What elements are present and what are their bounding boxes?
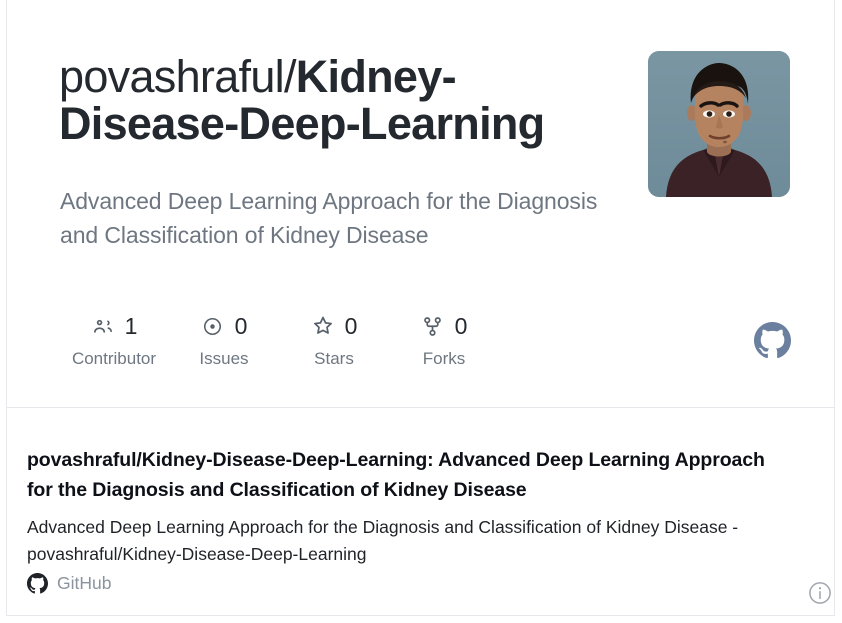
repository-description: Advanced Deep Learning Approach for the … bbox=[60, 184, 610, 252]
stat-stars-label: Stars bbox=[314, 349, 354, 369]
stat-stars-top: 0 bbox=[311, 312, 358, 340]
stat-contributors: 1 Contributor bbox=[59, 312, 169, 369]
github-mark-icon bbox=[27, 573, 48, 594]
repository-title: povashraful/Kidney-Disease-Deep-Learning bbox=[59, 53, 619, 147]
stat-contributors-top: 1 bbox=[91, 312, 138, 340]
stat-contributors-label: Contributor bbox=[72, 349, 156, 369]
repository-owner: povashraful/ bbox=[59, 51, 296, 102]
repo-forked-icon bbox=[421, 314, 445, 338]
preview-meta: povashraful/Kidney-Disease-Deep-Learning… bbox=[7, 408, 834, 615]
stat-stars-value: 0 bbox=[345, 312, 358, 340]
avatar bbox=[648, 51, 790, 197]
stat-forks-top: 0 bbox=[421, 312, 468, 340]
github-mark-icon bbox=[754, 322, 791, 359]
star-icon bbox=[311, 314, 335, 338]
stat-issues-value: 0 bbox=[235, 312, 248, 340]
link-preview-card[interactable]: povashraful/Kidney-Disease-Deep-Learning… bbox=[6, 0, 835, 616]
stat-issues-top: 0 bbox=[201, 312, 248, 340]
info-circle-icon[interactable] bbox=[807, 580, 833, 606]
stat-stars: 0 Stars bbox=[279, 312, 389, 369]
preview-source[interactable]: GitHub bbox=[27, 573, 111, 594]
stat-issues: 0 Issues bbox=[169, 312, 279, 369]
repository-stats: 1 Contributor 0 Issues bbox=[59, 312, 499, 369]
issue-opened-icon bbox=[201, 314, 225, 338]
preview-title[interactable]: povashraful/Kidney-Disease-Deep-Learning… bbox=[27, 445, 787, 505]
stat-forks-label: Forks bbox=[423, 349, 466, 369]
stat-issues-label: Issues bbox=[199, 349, 248, 369]
preview-description: Advanced Deep Learning Approach for the … bbox=[27, 514, 802, 568]
stat-forks-value: 0 bbox=[455, 312, 468, 340]
preview-source-label: GitHub bbox=[57, 573, 111, 594]
preview-hero-image: povashraful/Kidney-Disease-Deep-Learning… bbox=[7, 0, 834, 408]
stat-forks: 0 Forks bbox=[389, 312, 499, 369]
stat-contributors-value: 1 bbox=[125, 312, 138, 340]
people-icon bbox=[91, 314, 115, 338]
